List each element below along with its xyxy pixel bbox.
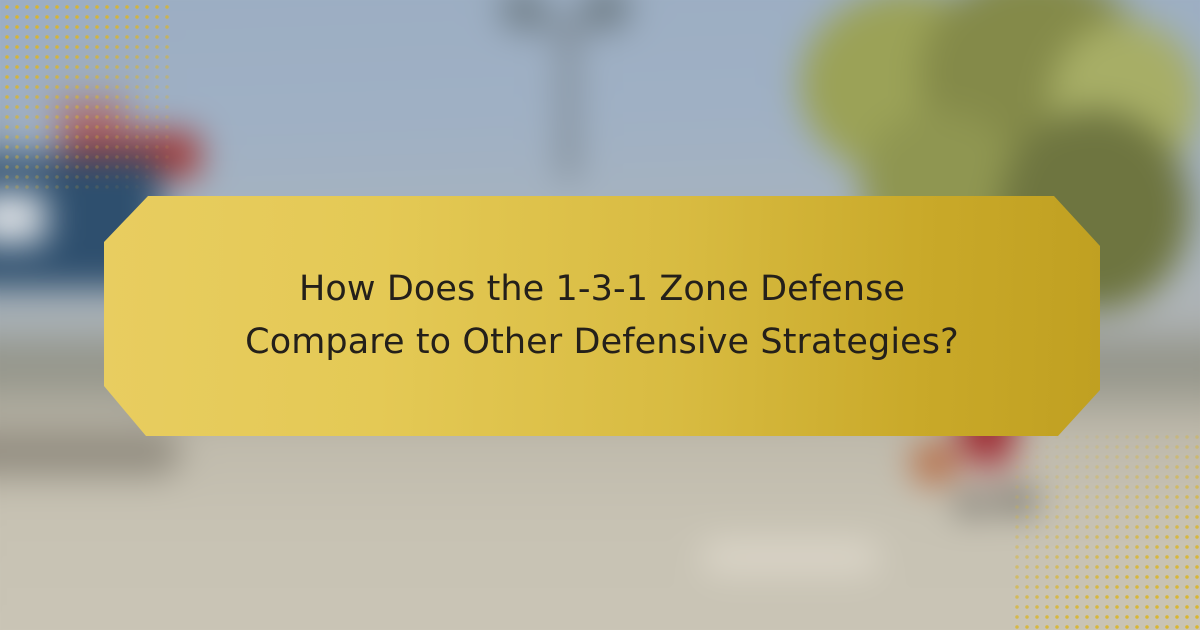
ground-shadow — [0, 430, 180, 476]
title-banner: How Does the 1-3-1 Zone Defense Compare … — [104, 196, 1100, 436]
lamp-post — [560, 20, 577, 180]
basketball-rim — [56, 106, 126, 122]
page-title: How Does the 1-3-1 Zone Defense Compare … — [162, 263, 1042, 369]
share-card-canvas: How Does the 1-3-1 Zone Defense Compare … — [0, 0, 1200, 630]
ground-highlight — [700, 540, 880, 574]
basketball — [912, 442, 956, 484]
truck-window — [0, 192, 46, 244]
player-shoe-right — [1000, 490, 1034, 512]
basketball-backboard — [38, 38, 142, 112]
player-shoe-left — [956, 494, 990, 514]
